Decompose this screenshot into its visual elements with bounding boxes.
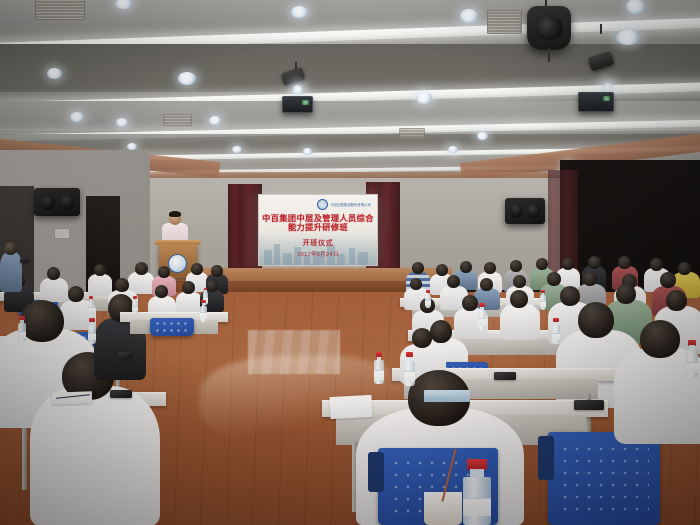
speaker-driver-icon — [60, 194, 74, 210]
air-vent-icon — [487, 10, 522, 34]
audience-head — [211, 265, 223, 277]
audience-head — [158, 266, 170, 278]
audience-head — [191, 263, 203, 275]
recessed-downlight — [209, 116, 221, 125]
audience-head — [536, 258, 548, 270]
recessed-downlight — [416, 92, 432, 104]
audience-head — [155, 285, 168, 298]
speaker-driver-icon — [41, 194, 55, 210]
podium-emblem-icon — [168, 254, 187, 273]
photographer-head — [4, 242, 17, 255]
water-bottle — [552, 318, 560, 344]
water-bottle — [18, 316, 26, 342]
audience-head — [436, 264, 448, 276]
recessed-downlight — [460, 9, 478, 23]
audience-head — [412, 262, 424, 274]
air-vent-icon — [163, 114, 192, 126]
bottle-label — [478, 318, 486, 326]
camera-device — [20, 258, 29, 263]
bottle-label — [88, 307, 94, 313]
projector-lens-icon — [603, 96, 610, 101]
bottle-label — [404, 371, 415, 381]
recessed-downlight — [178, 72, 196, 85]
water-bottle — [425, 290, 431, 308]
company-emblem-icon — [317, 199, 328, 210]
photographer-body — [0, 252, 22, 292]
chair-armrest — [368, 452, 384, 492]
slide-title-line2: 能力提升研修班 — [259, 221, 377, 233]
recessed-downlight — [303, 148, 312, 155]
audience-head — [484, 262, 496, 274]
audience-body — [88, 274, 112, 296]
paper-handout — [329, 395, 372, 419]
recessed-downlight — [448, 146, 458, 153]
projector-lens-icon — [302, 100, 309, 105]
air-vent-icon — [35, 0, 85, 20]
water-bottle-foreground — [463, 460, 491, 525]
audience-head — [666, 290, 687, 311]
water-bottle — [88, 296, 94, 316]
recessed-downlight — [70, 112, 84, 122]
audience-head — [650, 258, 663, 271]
conference-room-photo: 中百控股集团股份有限公司 中百集团中层及管理人员综合 能力提升研修班 开班仪式 … — [0, 0, 700, 525]
smartphone — [118, 352, 132, 358]
audience-head — [562, 258, 574, 270]
water-bottle — [374, 352, 384, 384]
recessed-downlight — [477, 132, 488, 140]
recessed-downlight — [116, 118, 128, 127]
audience-head — [94, 264, 106, 276]
recessed-downlight — [291, 6, 308, 18]
recessed-downlight — [232, 146, 242, 153]
smartphone — [110, 390, 132, 398]
chair-foreground — [548, 432, 660, 525]
chair — [150, 318, 194, 336]
recessed-downlight — [47, 68, 62, 79]
speaker-mount-lower — [548, 48, 550, 62]
audience-body — [40, 278, 68, 302]
water-bottle — [404, 352, 415, 386]
slide-date: 2017年5月24日 — [259, 250, 377, 258]
chair-perforations — [154, 320, 189, 334]
audience-head — [660, 272, 676, 288]
audience-head — [547, 272, 561, 286]
audience-head — [678, 262, 691, 275]
recessed-downlight — [127, 143, 137, 150]
slide-subtitle: 开班仪式 — [259, 238, 377, 248]
smartphone — [574, 400, 604, 410]
recessed-downlight — [616, 30, 640, 45]
water-bottle — [132, 296, 138, 314]
chair-perforations — [559, 443, 649, 514]
wall-speaker-left — [34, 188, 80, 216]
chair-armrest — [538, 436, 554, 480]
bottle-label — [18, 331, 26, 339]
smartphone — [494, 372, 516, 380]
audience-head — [447, 275, 460, 288]
bottle-label — [374, 370, 384, 379]
audience-head — [135, 262, 148, 275]
hanging-speaker — [527, 6, 571, 50]
audience-head — [182, 281, 195, 294]
water-bottle — [200, 300, 207, 322]
audience-head — [462, 295, 478, 311]
water-bottle — [686, 340, 698, 378]
audience-head — [410, 278, 422, 290]
audience-head — [510, 260, 522, 272]
desk-leg — [22, 424, 27, 490]
bottle-label — [88, 333, 96, 341]
audience-head — [588, 256, 601, 269]
bottle-neck — [470, 469, 483, 477]
ceiling-projector — [578, 92, 614, 112]
water-bottle — [540, 290, 546, 310]
audience-head — [460, 261, 472, 273]
audience-head — [68, 286, 84, 302]
speaker-driver-icon — [510, 203, 523, 218]
speaker-driver-icon — [527, 203, 540, 218]
presentation-slide: 中百控股集团股份有限公司 中百集团中层及管理人员综合 能力提升研修班 开班仪式 … — [259, 195, 377, 265]
audience-head — [583, 272, 597, 286]
audience-head — [47, 267, 60, 280]
bottle-label — [425, 300, 431, 306]
wall-speaker-right — [505, 198, 545, 224]
water-bottle — [478, 303, 486, 330]
audience-body-foreground — [30, 386, 160, 525]
ceiling-projector — [282, 96, 313, 113]
spotlight-beam — [292, 84, 303, 95]
audience-head — [560, 286, 580, 306]
wall-plate — [54, 228, 70, 239]
spotlight-mount — [600, 24, 602, 34]
water-bottle — [88, 318, 96, 344]
audience-body — [176, 292, 202, 314]
audience-head — [513, 275, 526, 288]
audience-head-foreground — [640, 320, 680, 358]
air-vent-icon — [399, 128, 425, 139]
bottle-label — [552, 333, 560, 341]
bottle-label — [132, 306, 138, 312]
bottle-label — [540, 301, 546, 307]
booklet — [424, 392, 454, 400]
bottle-label — [463, 498, 491, 516]
projection-screen: 中百控股集团股份有限公司 中百集团中层及管理人员综合 能力提升研修班 开班仪式 … — [258, 194, 378, 266]
slide-company-logo: 中百控股集团股份有限公司 — [317, 199, 371, 210]
audience-head — [412, 328, 432, 348]
bottle-label — [686, 362, 698, 373]
slide-logo-text: 中百控股集团股份有限公司 — [330, 202, 371, 207]
audience-head-large — [578, 302, 614, 338]
audience-body — [500, 304, 540, 340]
audience-head-foreground — [20, 300, 64, 342]
audience-head — [115, 278, 129, 292]
presenter-hair — [169, 211, 181, 217]
audience-head — [430, 320, 452, 343]
audience-head — [510, 290, 528, 308]
audience-head — [480, 278, 493, 291]
audience-head — [618, 256, 631, 269]
audience-head — [616, 284, 636, 304]
bottle-label — [200, 312, 207, 319]
